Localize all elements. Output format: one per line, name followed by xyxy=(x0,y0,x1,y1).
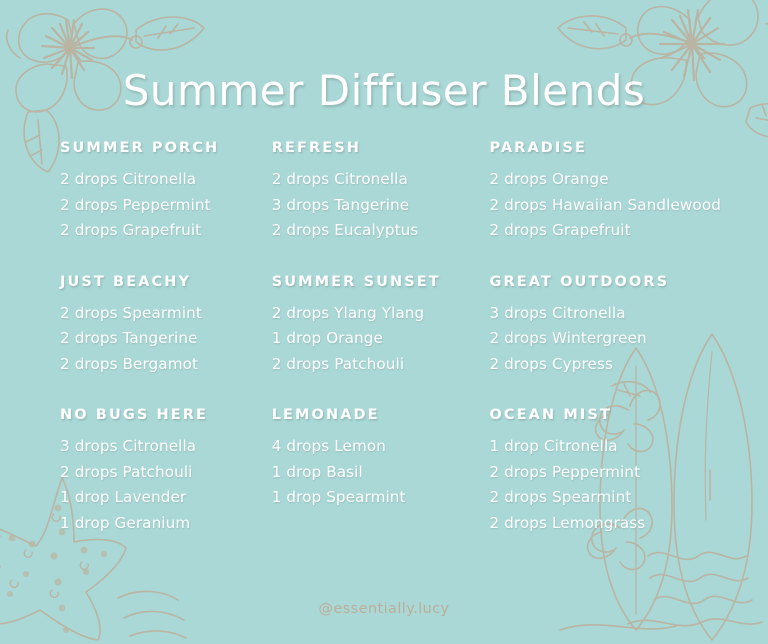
list-item: 2 drops Tangerine xyxy=(60,326,262,352)
blend-ingredient-list: 1 drop Citronella 2 drops Peppermint 2 d… xyxy=(489,434,768,536)
list-item: 2 drops Patchouli xyxy=(272,352,472,378)
list-item: 2 drops Grapefruit xyxy=(489,218,768,244)
list-item: 2 drops Bergamot xyxy=(60,352,262,378)
list-item: 3 drops Citronella xyxy=(489,301,768,327)
blend-column-3: PARADISE 2 drops Orange 2 drops Hawaiian… xyxy=(471,140,768,536)
blend-refresh: REFRESH 2 drops Citronella 3 drops Tange… xyxy=(272,140,472,244)
blend-just-beachy: JUST BEACHY 2 drops Spearmint 2 drops Ta… xyxy=(60,274,262,378)
list-item: 2 drops Peppermint xyxy=(489,460,768,486)
blend-title: SUMMER PORCH xyxy=(60,140,262,156)
list-item: 1 drop Lavender xyxy=(60,485,262,511)
blend-title: REFRESH xyxy=(272,140,472,156)
blend-column-2: REFRESH 2 drops Citronella 3 drops Tange… xyxy=(262,140,472,536)
blend-summer-sunset: SUMMER SUNSET 2 drops Ylang Ylang 1 drop… xyxy=(272,274,472,378)
blend-ingredient-list: 2 drops Orange 2 drops Hawaiian Sandlewo… xyxy=(489,167,768,244)
blend-ingredient-list: 2 drops Citronella 2 drops Peppermint 2 … xyxy=(60,167,262,244)
blend-paradise: PARADISE 2 drops Orange 2 drops Hawaiian… xyxy=(489,140,768,244)
list-item: 2 drops Wintergreen xyxy=(489,326,768,352)
blend-great-outdoors: GREAT OUTDOORS 3 drops Citronella 2 drop… xyxy=(489,274,768,378)
blend-no-bugs-here: NO BUGS HERE 3 drops Citronella 2 drops … xyxy=(60,407,262,536)
blend-title: LEMONADE xyxy=(272,407,472,423)
blend-title: OCEAN MIST xyxy=(489,407,768,423)
blend-ingredient-list: 3 drops Citronella 2 drops Patchouli 1 d… xyxy=(60,434,262,536)
list-item: 1 drop Orange xyxy=(272,326,472,352)
list-item: 2 drops Spearmint xyxy=(489,485,768,511)
list-item: 3 drops Tangerine xyxy=(272,193,472,219)
blend-columns: SUMMER PORCH 2 drops Citronella 2 drops … xyxy=(0,140,768,536)
list-item: 3 drops Citronella xyxy=(60,434,262,460)
blend-ingredient-list: 3 drops Citronella 2 drops Wintergreen 2… xyxy=(489,301,768,378)
blend-ingredient-list: 4 drops Lemon 1 drop Basil 1 drop Spearm… xyxy=(272,434,472,511)
list-item: 2 drops Peppermint xyxy=(60,193,262,219)
blend-summer-porch: SUMMER PORCH 2 drops Citronella 2 drops … xyxy=(60,140,262,244)
list-item: 2 drops Ylang Ylang xyxy=(272,301,472,327)
list-item: 2 drops Grapefruit xyxy=(60,218,262,244)
list-item: 2 drops Hawaiian Sandlewood xyxy=(489,193,768,219)
blend-title: SUMMER SUNSET xyxy=(272,274,472,290)
list-item: 2 drops Eucalyptus xyxy=(272,218,472,244)
list-item: 1 drop Geranium xyxy=(60,511,262,537)
list-item: 2 drops Patchouli xyxy=(60,460,262,486)
blend-ingredient-list: 2 drops Spearmint 2 drops Tangerine 2 dr… xyxy=(60,301,262,378)
list-item: 2 drops Cypress xyxy=(489,352,768,378)
blend-title: GREAT OUTDOORS xyxy=(489,274,768,290)
list-item: 1 drop Citronella xyxy=(489,434,768,460)
page-title: Summer Diffuser Blends xyxy=(0,66,768,115)
list-item: 2 drops Lemongrass xyxy=(489,511,768,537)
blend-ingredient-list: 2 drops Citronella 3 drops Tangerine 2 d… xyxy=(272,167,472,244)
social-handle: @essentially.lucy xyxy=(0,601,768,617)
list-item: 1 drop Spearmint xyxy=(272,485,472,511)
blend-ocean-mist: OCEAN MIST 1 drop Citronella 2 drops Pep… xyxy=(489,407,768,536)
poster-content: Summer Diffuser Blends SUMMER PORCH 2 dr… xyxy=(0,0,768,644)
blend-lemonade: LEMONADE 4 drops Lemon 1 drop Basil 1 dr… xyxy=(272,407,472,511)
blend-title: NO BUGS HERE xyxy=(60,407,262,423)
list-item: 4 drops Lemon xyxy=(272,434,472,460)
list-item: 2 drops Citronella xyxy=(60,167,262,193)
list-item: 2 drops Orange xyxy=(489,167,768,193)
blend-column-1: SUMMER PORCH 2 drops Citronella 2 drops … xyxy=(0,140,262,536)
blend-title: JUST BEACHY xyxy=(60,274,262,290)
summer-diffuser-blends-poster: Summer Diffuser Blends SUMMER PORCH 2 dr… xyxy=(0,0,768,644)
blend-title: PARADISE xyxy=(489,140,768,156)
blend-ingredient-list: 2 drops Ylang Ylang 1 drop Orange 2 drop… xyxy=(272,301,472,378)
list-item: 2 drops Citronella xyxy=(272,167,472,193)
list-item: 1 drop Basil xyxy=(272,460,472,486)
list-item: 2 drops Spearmint xyxy=(60,301,262,327)
